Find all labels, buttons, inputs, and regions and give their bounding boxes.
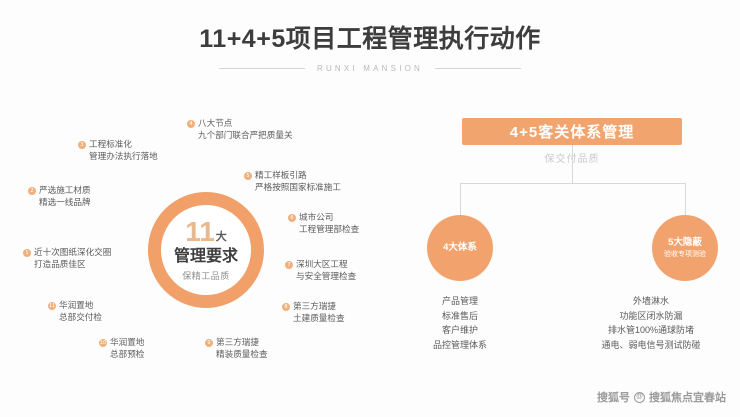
node-item-3: 3工程标准化 管理办法执行落地 [78, 138, 158, 163]
node-badge-icon: 1 [23, 249, 31, 257]
list-item: 品控管理体系 [407, 338, 513, 353]
right-diagram: 4+5客关体系管理 保交付品质 4大体系 产品管理 标准售后 客户维护 品控管理… [400, 96, 740, 396]
watermark-text: 搜狐焦点宜春站 [649, 389, 726, 405]
ring-unit: 大 [216, 232, 227, 246]
ring-main-label: 管理要求 [174, 247, 238, 266]
node-line2: 精装质量检查 [205, 348, 268, 360]
page-title: 11+4+5项目工程管理执行动作 [0, 26, 740, 54]
subtitle-row: RUNXI MANSION [0, 64, 740, 73]
node-line2: 工程管理部检查 [288, 223, 359, 235]
node-badge-icon: 4 [187, 120, 195, 128]
node-line1: 工程标准化 [89, 139, 132, 149]
node-item-8: 8第三方瑞捷 土建质量检查 [282, 300, 345, 325]
list-item: 功能区闭水防漏 [565, 309, 737, 324]
bubble-line1: 4大体系 [443, 242, 477, 253]
list-item: 排水管100%通球防堵 [565, 323, 737, 338]
node-line2: 土建质量检查 [282, 312, 345, 324]
connector-crossbar [460, 183, 685, 184]
node-line1: 城市公司 [299, 212, 333, 222]
node-line2: 管理办法执行落地 [78, 150, 158, 162]
branch-bubble-4-systems: 4大体系 [427, 215, 493, 281]
bubble-line1: 5大隐蔽 [668, 237, 702, 248]
node-item-9: 9第三方瑞捷 精装质量检查 [205, 336, 268, 361]
watermark-prefix: 搜狐号 [597, 389, 630, 405]
node-line1: 第三方瑞捷 [216, 337, 259, 347]
list-item: 产品管理 [407, 294, 513, 309]
node-line2: 严格按照国家标准施工 [244, 181, 341, 193]
node-item-7: 7深圳大区工程 与安全管理检查 [285, 258, 356, 283]
node-badge-icon: 2 [28, 187, 36, 195]
node-line1: 华润置地 [59, 300, 93, 310]
node-item-6: 6城市公司 工程管理部检查 [288, 211, 359, 236]
node-line1: 八大节点 [198, 118, 232, 128]
node-badge-icon: 7 [285, 261, 293, 269]
node-badge-icon: 9 [205, 339, 213, 347]
connector-branch-left [460, 183, 461, 215]
node-badge-icon: 11 [48, 302, 56, 310]
node-item-10: 10华润置地 总部预检 [99, 336, 144, 361]
connector-branch-right [685, 183, 686, 215]
node-line1: 严选施工材质 [39, 185, 91, 195]
ring-sub-label: 保精工品质 [182, 269, 230, 282]
watermark: 搜狐号 @ 搜狐焦点宜春站 [597, 389, 726, 405]
slide-canvas: 11+4+5项目工程管理执行动作 RUNXI MANSION 11 大 管理要求… [0, 0, 740, 417]
node-badge-icon: 3 [78, 141, 86, 149]
list-item: 客户维护 [407, 323, 513, 338]
node-line1: 深圳大区工程 [296, 259, 348, 269]
page-subtitle: RUNXI MANSION [317, 64, 423, 73]
node-line2: 精选一线品牌 [28, 196, 91, 208]
node-item-11: 11华润置地 总部交付检 [48, 299, 102, 324]
node-badge-icon: 10 [99, 339, 107, 347]
connector-trunk [572, 145, 573, 183]
node-item-2: 2严选施工材质 精选一线品牌 [28, 184, 91, 209]
node-item-5: 5精工样板引路 严格按照国家标准施工 [244, 169, 341, 194]
node-item-4: 4八大节点 九个部门联合严把质量关 [187, 117, 293, 142]
divider-right [435, 68, 521, 69]
node-line2: 总部交付检 [48, 311, 102, 323]
node-line2: 总部预检 [99, 348, 144, 360]
right-header-title: 4+5客关体系管理 [510, 121, 634, 142]
node-line2: 打造品质佳区 [23, 258, 111, 270]
list-item: 通电、弱电信号测试防碰 [565, 338, 737, 353]
node-badge-icon: 8 [282, 303, 290, 311]
node-line1: 华润置地 [110, 337, 144, 347]
bubble-line2: 验收专项测验 [664, 251, 706, 259]
management-ring-content: 11 大 管理要求 保精工品质 [148, 192, 264, 308]
node-badge-icon: 5 [244, 172, 252, 180]
ring-number-row: 11 大 [185, 218, 227, 246]
list-item: 标准售后 [407, 309, 513, 324]
list-item: 外墙淋水 [565, 294, 737, 309]
branch-list-5-hidden: 外墙淋水 功能区闭水防漏 排水管100%通球防堵 通电、弱电信号测试防碰 [565, 294, 737, 352]
branch-list-4-systems: 产品管理 标准售后 客户维护 品控管理体系 [407, 294, 513, 352]
branch-bubble-5-hidden: 5大隐蔽 验收专项测验 [652, 215, 718, 281]
node-line1: 近十次图纸深化交圈 [34, 247, 111, 257]
header: 11+4+5项目工程管理执行动作 RUNXI MANSION [0, 26, 740, 73]
ring-number: 11 [185, 218, 215, 246]
sohu-logo-icon: @ [634, 392, 645, 403]
right-header-banner: 4+5客关体系管理 [462, 118, 682, 145]
node-line2: 与安全管理检查 [285, 270, 356, 282]
node-line1: 第三方瑞捷 [293, 301, 336, 311]
node-item-1: 1近十次图纸深化交圈 打造品质佳区 [23, 246, 111, 271]
node-line1: 精工样板引路 [255, 170, 307, 180]
node-badge-icon: 6 [288, 214, 296, 222]
divider-left [219, 68, 305, 69]
left-diagram: 11 大 管理要求 保精工品质 3工程标准化 管理办法执行落地 4八大节点 九个… [0, 96, 420, 396]
node-line2: 九个部门联合严把质量关 [187, 129, 293, 141]
